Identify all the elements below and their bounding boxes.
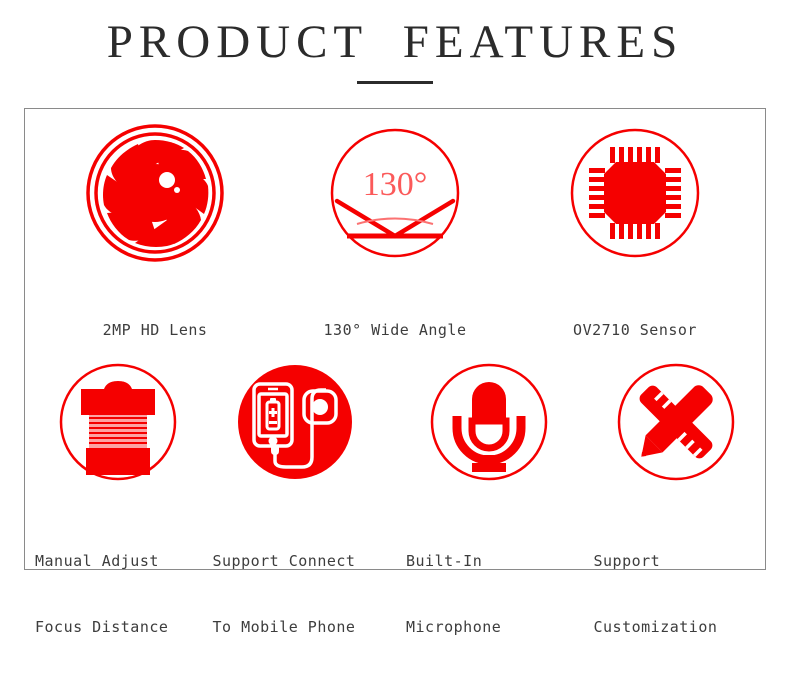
feature-card-hd-lens: 2MP HD Lens	[35, 123, 275, 385]
sensor-chip-icon	[565, 123, 705, 263]
feature-label-microphone: Built-In Microphone	[400, 506, 501, 682]
title-underline-rule	[357, 81, 433, 84]
feature-row-bottom: Manual Adjust Focus Distance	[25, 352, 765, 682]
feature-card-phone-connect: Support Connect To Mobile Phone	[207, 352, 385, 682]
microphone-icon	[419, 352, 559, 492]
feature-card-wide-angle: 130° 130° Wide Angle	[275, 123, 515, 385]
feature-card-microphone: Built-In Microphone	[384, 352, 578, 682]
feature-card-sensor: OV2710 Sensor	[515, 123, 755, 385]
wide-angle-value: 130°	[363, 166, 428, 203]
title-block: PRODUCT FEATURES	[0, 14, 790, 84]
wide-angle-icon: 130°	[325, 123, 465, 263]
lens-focus-ring-icon	[48, 352, 188, 492]
feature-card-customization: Support Customization	[578, 352, 766, 682]
page-title: PRODUCT FEATURES	[0, 14, 790, 70]
phone-connect-icon	[225, 352, 365, 492]
camera-aperture-icon	[85, 123, 225, 263]
features-frame: 2MP HD Lens 130° 130° Wide Angle	[24, 108, 766, 570]
feature-card-manual-focus: Manual Adjust Focus Distance	[25, 352, 207, 682]
feature-row-top: 2MP HD Lens 130° 130° Wide Angle	[25, 123, 765, 385]
feature-label-phone-connect: Support Connect To Mobile Phone	[207, 506, 356, 682]
feature-label-customization: Support Customization	[588, 506, 718, 682]
pencil-ruler-icon	[606, 352, 746, 492]
feature-label-manual-focus: Manual Adjust Focus Distance	[29, 506, 168, 682]
